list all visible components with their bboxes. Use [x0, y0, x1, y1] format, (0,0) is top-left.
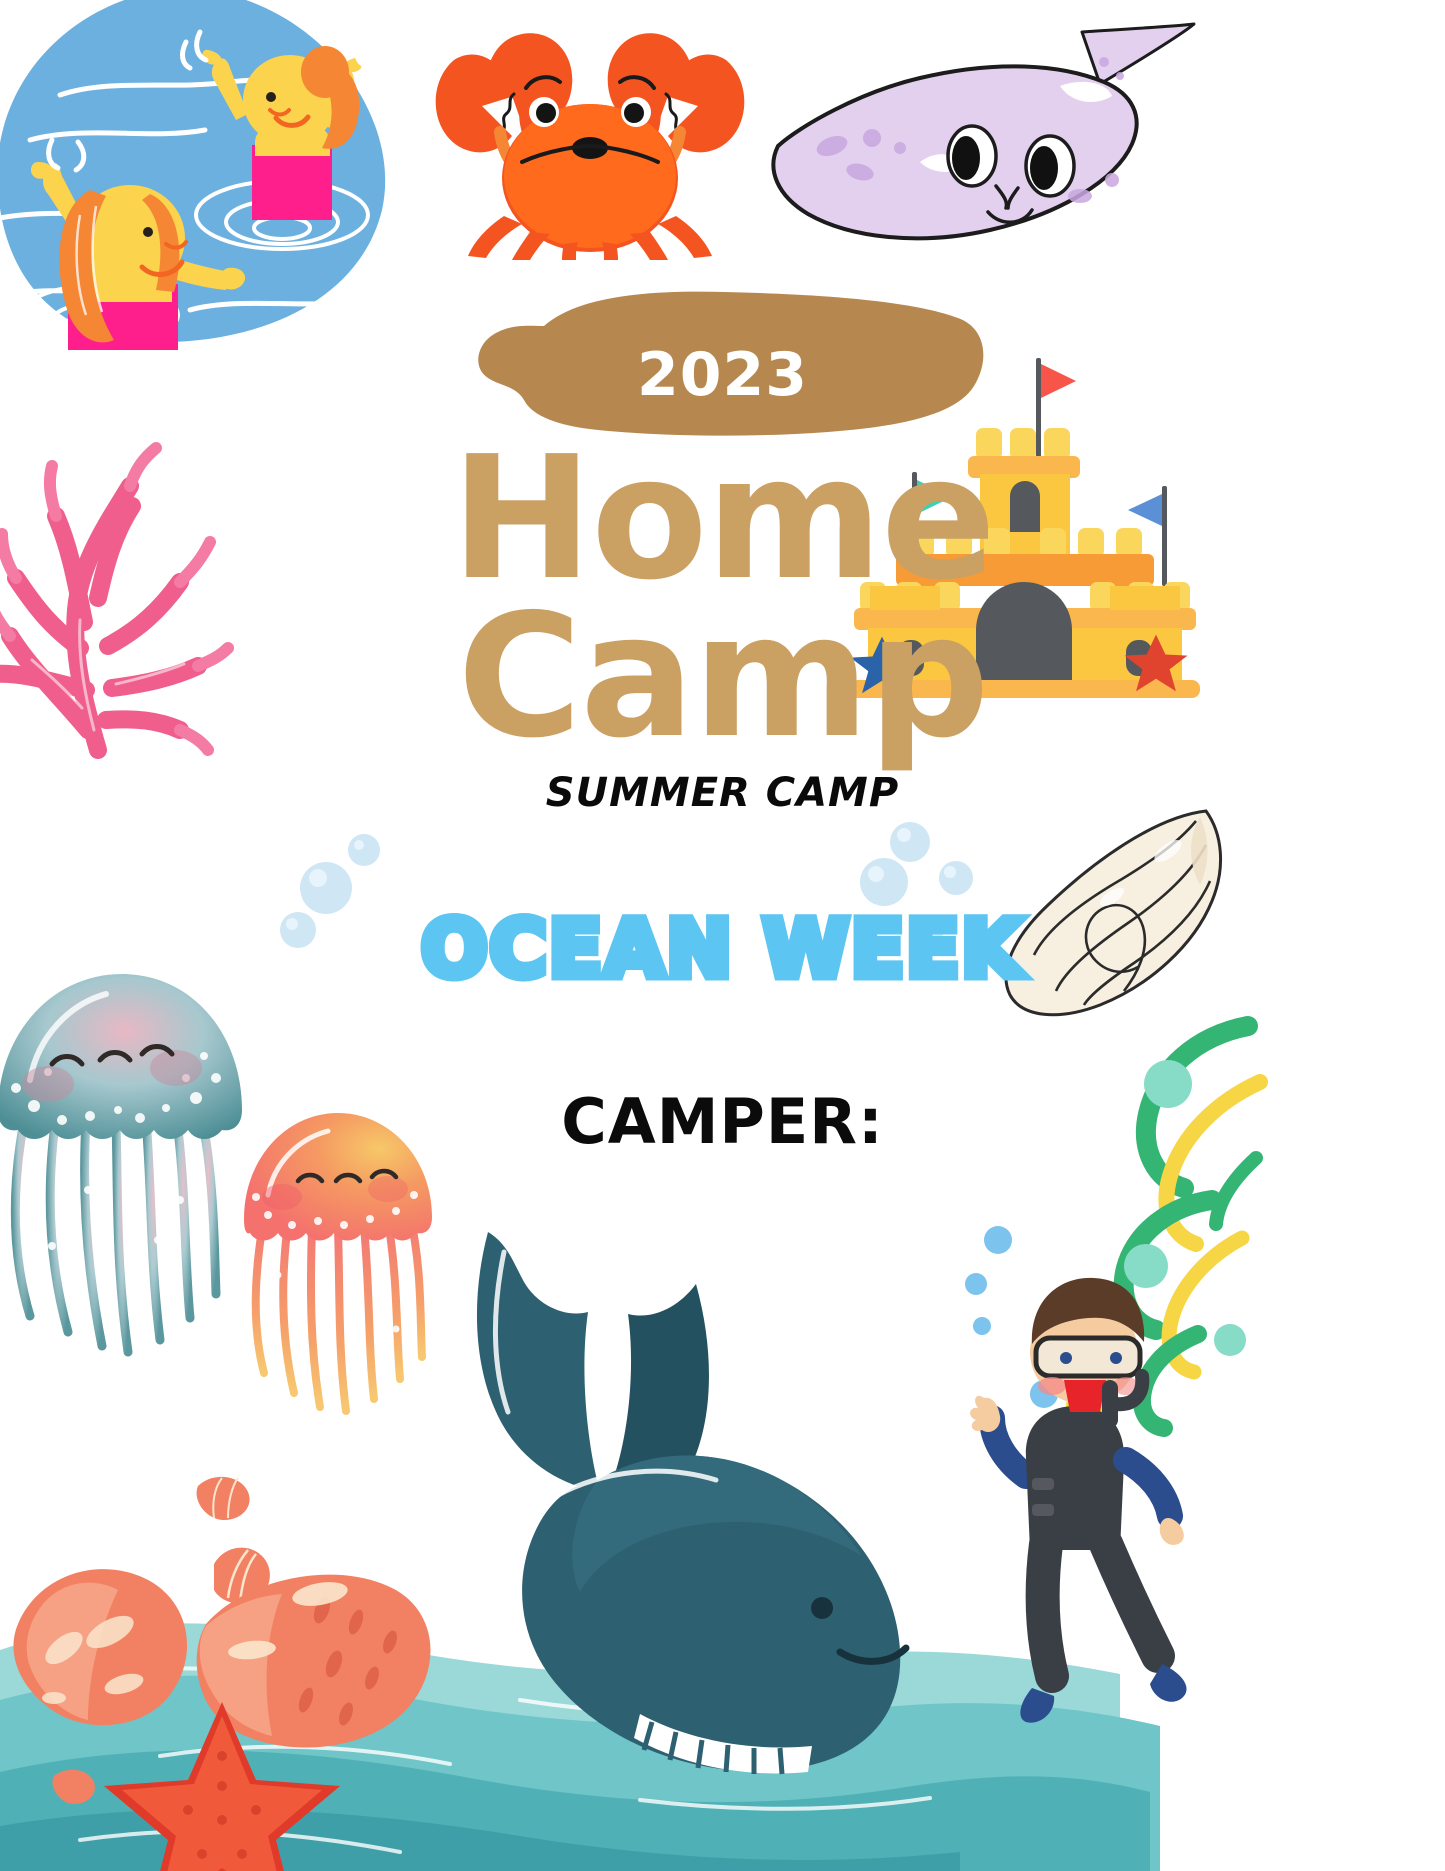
coral-illustration — [0, 430, 230, 760]
crab-illustration — [430, 20, 750, 260]
stingray-illustration — [760, 20, 1200, 250]
bubbles-decoration — [270, 820, 990, 1060]
ocean-scene-illustration — [0, 1180, 1445, 1871]
scuba-diver — [965, 1226, 1187, 1723]
year-text: 2023 — [637, 345, 808, 405]
spiral-shell-illustration — [1000, 805, 1230, 1025]
swimming-kids-illustration — [0, 0, 400, 350]
poster-canvas: 2023 Home Camp SUMMER CAMP OCEAN WEEK CA… — [0, 0, 1445, 1871]
sandcastle-illustration — [850, 340, 1200, 710]
